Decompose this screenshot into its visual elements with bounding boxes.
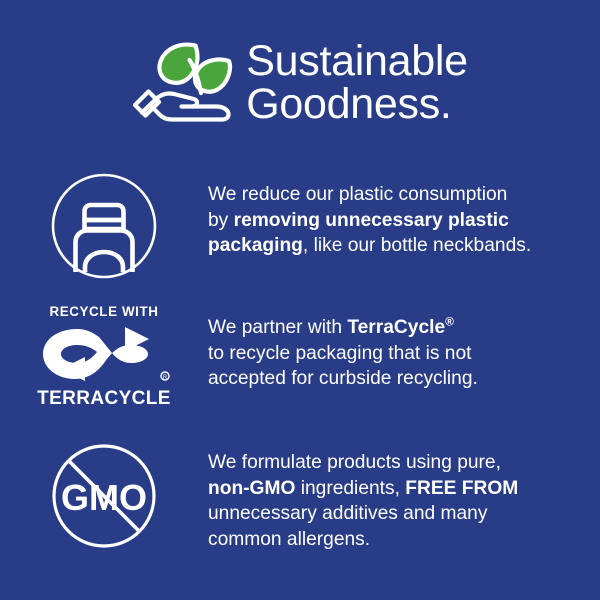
svg-text:R: R	[163, 375, 168, 381]
feature-icon-cell: GMO	[0, 440, 208, 550]
feature-line: by removing unnecessary plastic	[208, 210, 509, 231]
terracycle-bottom-label: TERRACYCLE	[37, 389, 171, 409]
feature-line: common allergens.	[208, 529, 370, 550]
feature-icon-cell	[0, 170, 208, 280]
terracycle-top-label: RECYCLE WITH	[49, 305, 158, 318]
feature-text-gmo: We formulate products using pure,non-GMO…	[208, 440, 600, 552]
feature-icon-cell: RECYCLE WITH R TERRACYCLE	[0, 305, 208, 409]
feature-line: non-GMO ingredients, FREE FROM	[208, 478, 518, 499]
page-title: Sustainable Goodness.	[246, 40, 467, 125]
sustainable-goodness-poster: Sustainable Goodness. We reduce our plas…	[0, 0, 600, 600]
feature-text-plastic: We reduce our plastic consumptionby remo…	[208, 170, 600, 259]
feature-line: unnecessary additives and many	[208, 503, 487, 524]
feature-row-plastic: We reduce our plastic consumptionby remo…	[0, 170, 600, 280]
terracycle-logo: RECYCLE WITH R TERRACYCLE	[36, 305, 172, 409]
header: Sustainable Goodness.	[0, 26, 600, 138]
feature-line: We formulate products using pure,	[208, 452, 501, 473]
feature-line: to recycle packaging that is not	[208, 343, 471, 364]
feature-line: packaging, like our bottle neckbands.	[208, 235, 531, 256]
feature-line: We partner with TerraCycle®	[208, 317, 454, 338]
feature-text-terracycle: We partner with TerraCycle®to recycle pa…	[208, 305, 600, 392]
feature-line: We reduce our plastic consumption	[208, 184, 507, 205]
plastic-bottle-circle-icon	[50, 172, 158, 280]
feature-row-terracycle: RECYCLE WITH R TERRACYCLE We partner wit…	[0, 305, 600, 409]
gmo-label: GMO	[61, 477, 147, 518]
no-gmo-circle-icon: GMO	[50, 442, 158, 550]
infinity-recycle-arrows-icon: R	[37, 323, 171, 385]
feature-row-gmo: GMO We formulate products using pure,non…	[0, 440, 600, 552]
feature-line: accepted for curbside recycling.	[208, 368, 478, 389]
hand-holding-leaves-icon	[132, 36, 236, 132]
